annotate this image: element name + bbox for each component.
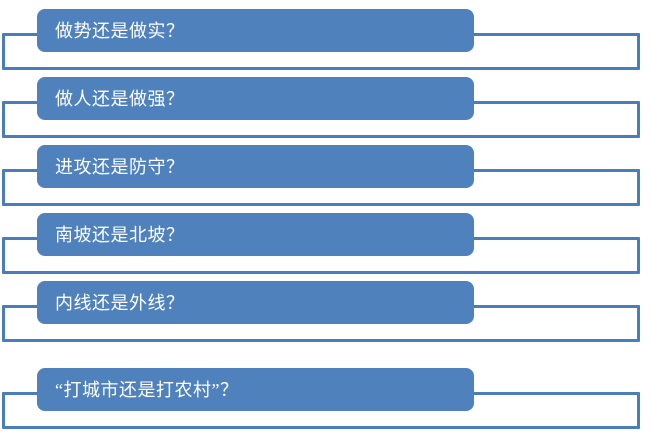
list-item[interactable]: 南坡还是北坡？: [0, 204, 652, 272]
row-label-box[interactable]: “打城市还是打农村”？: [37, 368, 474, 411]
row-label-text: 做势还是做实？: [55, 22, 185, 40]
row-label-box[interactable]: 南坡还是北坡？: [37, 213, 474, 256]
list-item[interactable]: “打城市还是打农村”？: [0, 359, 652, 427]
diagram-canvas: 做势还是做实？ 做人还是做强？ 进攻还是防守？ 南坡还是北坡？ 内线还是外线？ …: [0, 0, 652, 438]
list-item[interactable]: 内线还是外线？: [0, 272, 652, 340]
row-label-box[interactable]: 进攻还是防守？: [37, 145, 474, 188]
row-label-box[interactable]: 做人还是做强？: [37, 77, 474, 120]
row-label-text: 内线还是外线？: [55, 294, 185, 312]
list-item[interactable]: 做人还是做强？: [0, 68, 652, 136]
row-label-text: 南坡还是北坡？: [55, 226, 185, 244]
row-label-text: 进攻还是防守？: [55, 158, 185, 176]
row-label-box[interactable]: 内线还是外线？: [37, 281, 474, 324]
row-label-text: 做人还是做强？: [55, 90, 185, 108]
row-label-box[interactable]: 做势还是做实？: [37, 9, 474, 52]
row-label-text: “打城市还是打农村”？: [55, 381, 238, 399]
list-item[interactable]: 做势还是做实？: [0, 0, 652, 68]
list-item[interactable]: 进攻还是防守？: [0, 136, 652, 204]
